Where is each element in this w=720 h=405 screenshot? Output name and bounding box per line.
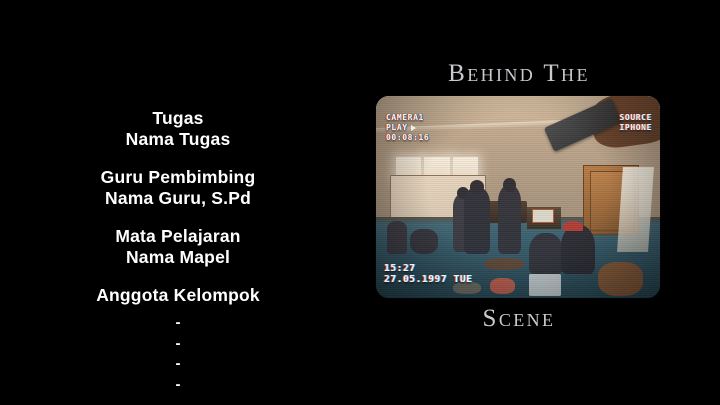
osd-camera-label: CAMERA1 xyxy=(386,113,429,123)
scene-seated-student xyxy=(561,225,595,273)
scene-paper-sheet xyxy=(532,209,554,223)
scene-seated-student xyxy=(410,229,438,253)
scene-seated-student xyxy=(529,233,563,273)
scene-red-cap xyxy=(563,221,583,231)
osd-date: 27.05.1997 TUE xyxy=(384,274,472,285)
credit-heading-guru: Guru Pembimbing xyxy=(0,167,356,188)
scene-floor-clutter xyxy=(484,258,524,270)
credit-value-tugas: Nama Tugas xyxy=(0,129,356,150)
osd-tape-counter: 00:08:16 xyxy=(386,133,429,143)
credit-heading-mapel: Mata Pelajaran xyxy=(0,226,356,247)
osd-play-label: PLAY xyxy=(386,123,408,132)
credits-column: Tugas Nama Tugas Guru Pembimbing Nama Gu… xyxy=(0,108,356,405)
credit-group-mapel: Mata Pelajaran Nama Mapel xyxy=(0,226,356,268)
scene-student-head xyxy=(503,178,516,192)
scene-student-head xyxy=(470,180,484,193)
osd-clock: 15:27 xyxy=(384,263,472,274)
credit-group-anggota: Anggota Kelompok - - - - xyxy=(0,285,356,395)
scene-standing-student xyxy=(498,185,521,254)
list-item: - xyxy=(0,354,356,375)
play-triangle-icon xyxy=(411,125,416,131)
credit-value-mapel: Nama Mapel xyxy=(0,247,356,268)
osd-source-block: SOURCE IPHONE xyxy=(620,113,653,133)
title-card-canvas: Tugas Nama Tugas Guru Pembimbing Nama Gu… xyxy=(0,0,720,405)
page-title-bottom: Scene xyxy=(364,305,674,333)
osd-source-label: SOURCE xyxy=(620,113,653,123)
scene-floor-clutter xyxy=(598,262,643,296)
credit-heading-anggota: Anggota Kelompok xyxy=(0,285,356,306)
credit-heading-tugas: Tugas xyxy=(0,108,356,129)
scene-floor-clutter xyxy=(490,278,516,294)
member-list: - - - - xyxy=(0,313,356,395)
scene-curtain xyxy=(617,167,654,252)
osd-camera-status: CAMERA1 PLAY 00:08:16 xyxy=(386,113,429,143)
osd-play-row: PLAY xyxy=(386,123,429,133)
list-item: - xyxy=(0,375,356,396)
credit-group-tugas: Tugas Nama Tugas xyxy=(0,108,356,150)
scene-seated-student xyxy=(387,221,407,253)
scene-floor-clutter xyxy=(529,274,560,296)
credit-group-guru: Guru Pembimbing Nama Guru, S.Pd xyxy=(0,167,356,209)
page-title-top: Behind The xyxy=(364,60,674,88)
osd-timestamp-block: 15:27 27.05.1997 TUE xyxy=(384,263,472,285)
credit-value-guru: Nama Guru, S.Pd xyxy=(0,188,356,209)
video-thumbnail[interactable]: CAMERA1 PLAY 00:08:16 SOURCE IPHONE 15:2… xyxy=(376,96,660,298)
osd-source-value: IPHONE xyxy=(620,123,653,133)
list-item: - xyxy=(0,313,356,334)
scene-standing-student xyxy=(464,187,490,254)
list-item: - xyxy=(0,334,356,355)
